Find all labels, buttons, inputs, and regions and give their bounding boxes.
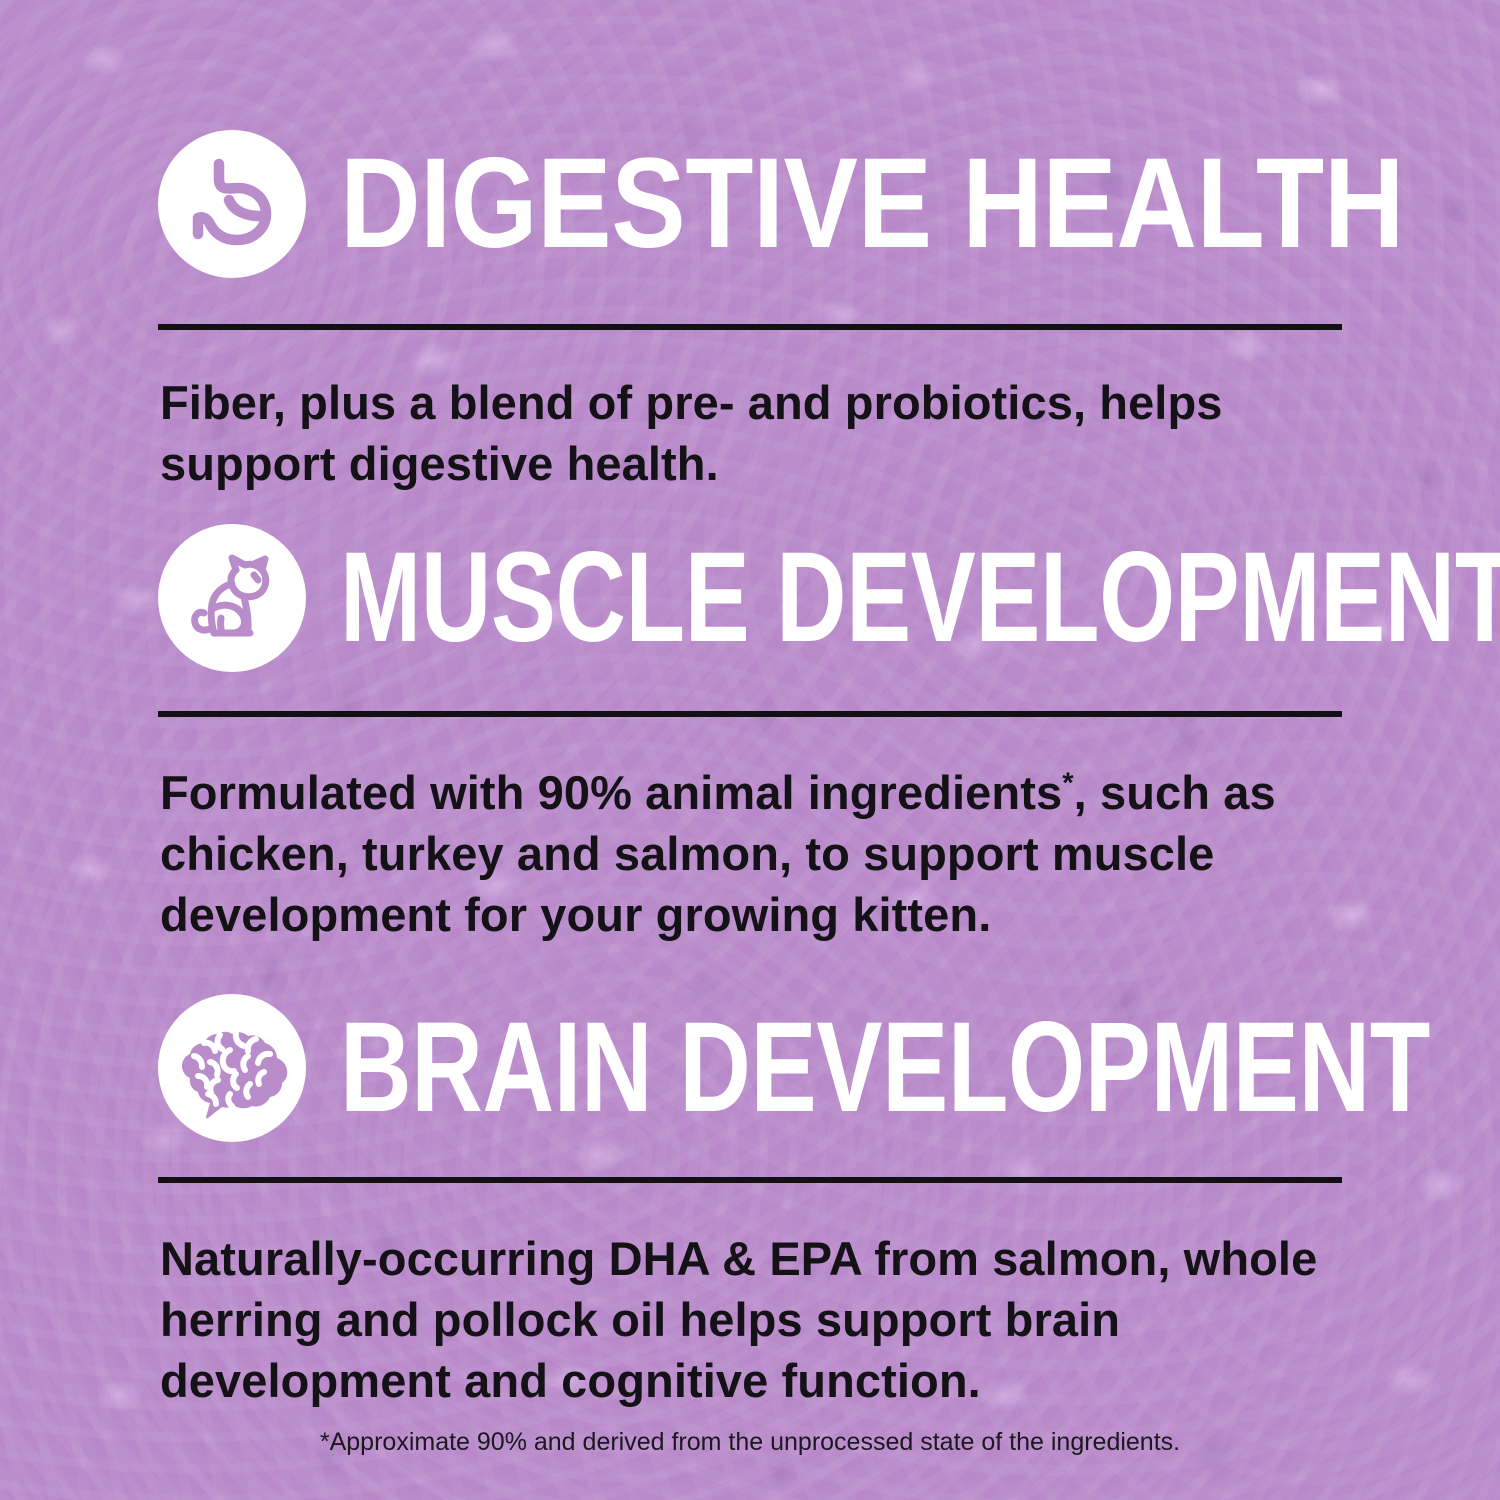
muscle-body-before: Formulated with 90% animal ingredients [160, 766, 1062, 819]
cat-icon-badge [158, 524, 306, 672]
brain-header-row: BRAIN DEVELOPMENT [158, 994, 1500, 1142]
brain-icon [174, 1010, 290, 1126]
muscle-body-text: Formulated with 90% animal ingredients*,… [160, 762, 1325, 945]
divider-rule-1 [158, 324, 1342, 330]
divider-rule-3 [158, 1177, 1342, 1183]
stomach-icon-badge [158, 130, 306, 278]
benefits-panel: DIGESTIVE HEALTH Fiber, plus a blend of … [0, 0, 1500, 1500]
muscle-header-row: MUSCLE DEVELOPMENT [158, 524, 1500, 672]
digestive-header-row: DIGESTIVE HEALTH [158, 130, 1500, 278]
brain-headline: BRAIN DEVELOPMENT [340, 1009, 1430, 1127]
stomach-icon [176, 148, 288, 260]
cat-icon [174, 540, 290, 656]
digestive-headline: DIGESTIVE HEALTH [340, 145, 1404, 263]
muscle-headline: MUSCLE DEVELOPMENT [340, 539, 1500, 657]
divider-rule-2 [158, 711, 1342, 717]
footnote: *Approximate 90% and derived from the un… [0, 1428, 1500, 1457]
brain-body-text: Naturally-occurring DHA & EPA from salmo… [160, 1228, 1325, 1411]
brain-icon-badge [158, 994, 306, 1142]
muscle-body-asterisk: * [1062, 767, 1073, 799]
digestive-body-text: Fiber, plus a blend of pre- and probioti… [160, 372, 1275, 494]
